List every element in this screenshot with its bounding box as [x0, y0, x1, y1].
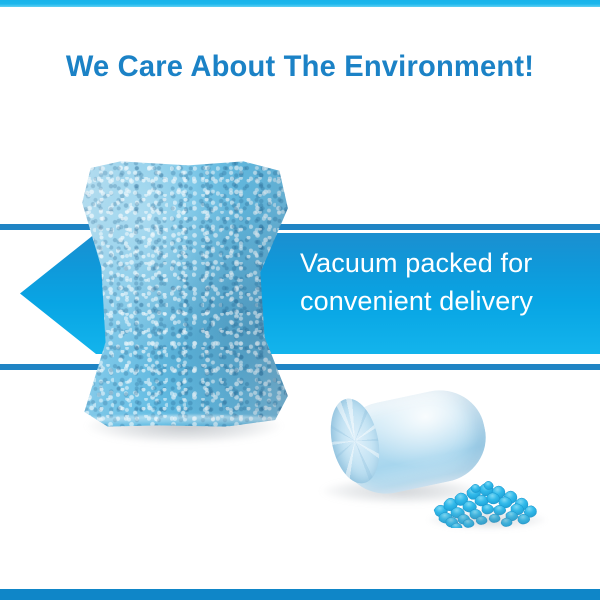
foam-bag-image [78, 160, 290, 440]
banner-caption-line-1: Vacuum packed for [300, 248, 532, 278]
page-title: We Care About The Environment! [9, 50, 591, 84]
loose-fill-pile-image [424, 470, 550, 532]
banner-caption-line-2: convenient delivery [300, 282, 590, 320]
bottom-accent-bar [0, 589, 600, 600]
foam-bag-body [78, 160, 290, 428]
foam-bag-seam [82, 415, 286, 424]
top-accent-bar [0, 0, 600, 7]
foam-bag-sheen [78, 160, 290, 428]
banner-caption: Vacuum packed for convenient delivery [300, 244, 590, 320]
poster-canvas: We Care About The Environment! Vacuum pa… [0, 0, 600, 600]
loose-fill-pile-shadow [428, 510, 546, 530]
